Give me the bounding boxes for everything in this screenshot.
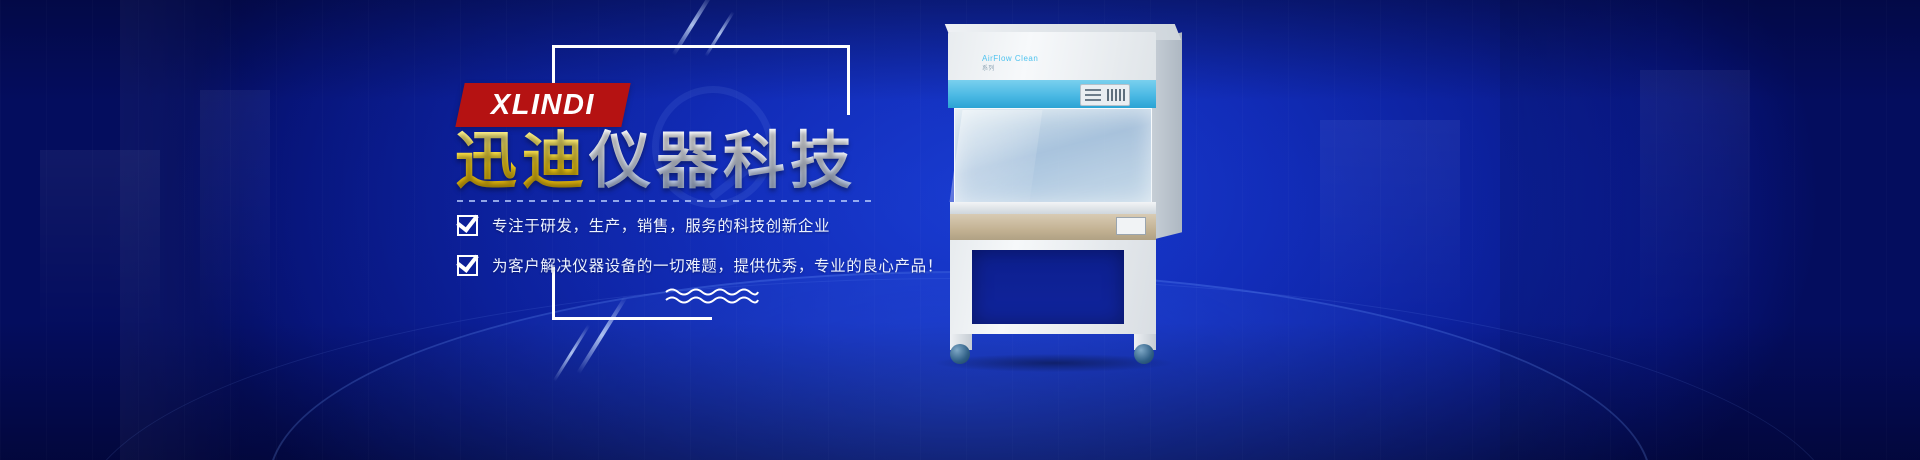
- check-icon: [457, 215, 478, 236]
- panel-line-3: [1085, 99, 1101, 101]
- list-item: 专注于研发，生产，销售，服务的科技创新企业: [457, 212, 977, 238]
- headline-gold-part: 迅迪: [455, 124, 589, 197]
- list-item: 为客户解决仪器设备的一切难题，提供优秀，专业的良心产品！: [457, 252, 977, 278]
- product-brand-name: AirFlow Clean: [982, 54, 1038, 63]
- brand-logo-badge: XLINDI: [455, 83, 630, 127]
- headline-divider: [457, 200, 877, 202]
- background-strip-left: [40, 150, 160, 330]
- product-brand-label: AirFlow Clean 系列: [982, 54, 1038, 72]
- check-icon: [457, 255, 478, 276]
- product-sub-brand: 系列: [982, 63, 1038, 72]
- panel-line-1: [1085, 89, 1101, 91]
- headline-silver-part: 仪器科技: [589, 124, 857, 197]
- hero-banner: XLINDI 迅迪仪器科技 专注于研发，生产，销售，服务的科技创新企业 为客户解…: [0, 0, 1920, 460]
- product-caster-left: [950, 344, 970, 364]
- list-item-label: 专注于研发，生产，销售，服务的科技创新企业: [492, 214, 830, 236]
- product-side-panel: [1152, 32, 1182, 239]
- background-strip-left-2: [200, 90, 270, 330]
- product-apron: [950, 214, 1156, 240]
- feature-list: 专注于研发，生产，销售，服务的科技创新企业 为客户解决仪器设备的一切难题，提供优…: [457, 212, 977, 292]
- product-caster-right: [1134, 344, 1154, 364]
- brand-logo-text: XLINDI: [491, 91, 595, 120]
- background-strip-right: [1320, 120, 1460, 330]
- panel-display: [1107, 89, 1125, 101]
- product-glass-reflection: [950, 110, 1043, 202]
- page-title: 迅迪仪器科技: [455, 128, 857, 193]
- banner-content: XLINDI 迅迪仪器科技 专注于研发，生产，销售，服务的科技创新企业 为客户解…: [455, 0, 975, 460]
- product-image-clean-bench: AirFlow Clean 系列: [930, 18, 1205, 378]
- product-lower-opening: [972, 250, 1124, 324]
- panel-line-2: [1085, 94, 1101, 96]
- product-control-panel: [1080, 84, 1130, 106]
- product-apron-label: [1116, 217, 1146, 235]
- background-strip-right-2: [1640, 70, 1750, 330]
- list-item-label: 为客户解决仪器设备的一切难题，提供优秀，专业的良心产品！: [492, 254, 943, 276]
